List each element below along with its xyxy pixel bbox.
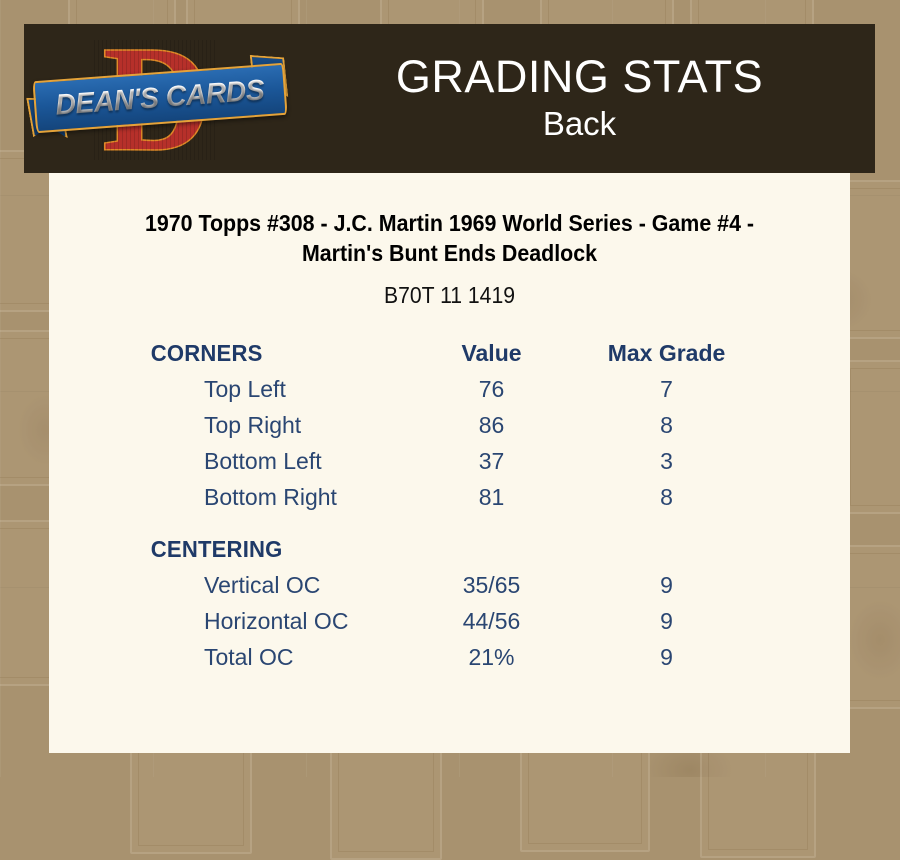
table-row: Total OC 21% 9 [49, 644, 850, 680]
stat-max-grade: 8 [579, 412, 754, 439]
card-title: 1970 Topps #308 - J.C. Martin 1969 World… [131, 208, 768, 268]
table-row: Top Right 86 8 [49, 412, 850, 448]
stats-section-centering: CENTERING Vertical OC 35/65 9 Horizontal… [49, 536, 850, 680]
stat-value: 86 [404, 412, 579, 439]
table-row: Bottom Left 37 3 [49, 448, 850, 484]
table-row: Bottom Right 81 8 [49, 484, 850, 520]
grading-stats-table: CORNERS Value Max Grade Top Left 76 7 To… [49, 340, 850, 680]
stat-label: Bottom Right [49, 484, 404, 511]
stat-max-grade: 9 [579, 608, 754, 635]
stat-label: Total OC [49, 644, 404, 671]
logo-banner-text: DEAN'S CARDS [54, 74, 265, 122]
background-card-tile [842, 360, 900, 514]
stat-value: 44/56 [404, 608, 579, 635]
stat-value: 76 [404, 376, 579, 403]
header-bar: D DEAN'S CARDS GRADING STATS Back [24, 24, 875, 173]
section-title-corners: CORNERS [49, 340, 390, 367]
section-title-centering: CENTERING [49, 536, 390, 563]
column-header-value: Value [404, 340, 579, 367]
page-title: GRADING STATS [294, 50, 865, 104]
stat-label: Vertical OC [49, 572, 404, 599]
stat-max-grade: 9 [579, 572, 754, 599]
logo-banner: DEAN'S CARDS [32, 63, 287, 133]
page-subtitle: Back [294, 104, 865, 144]
stat-value: 21% [404, 644, 579, 671]
card-code: B70T 11 1419 [81, 282, 818, 308]
stat-value: 81 [404, 484, 579, 511]
stat-value: 37 [404, 448, 579, 475]
header-title-group: GRADING STATS Back [294, 50, 875, 144]
stats-section-corners: CORNERS Value Max Grade Top Left 76 7 To… [49, 340, 850, 520]
stat-max-grade: 7 [579, 376, 754, 403]
stat-max-grade: 9 [579, 644, 754, 671]
deans-cards-logo[interactable]: D DEAN'S CARDS [24, 24, 294, 173]
table-row: Horizontal OC 44/56 9 [49, 608, 850, 644]
table-row: Top Left 76 7 [49, 376, 850, 412]
stat-value: 35/65 [404, 572, 579, 599]
stat-max-grade: 3 [579, 448, 754, 475]
stat-label: Top Right [49, 412, 404, 439]
stat-label: Horizontal OC [49, 608, 404, 635]
stat-label: Bottom Left [49, 448, 404, 475]
section-header-row: CORNERS Value Max Grade [49, 340, 850, 376]
content-panel: 1970 Topps #308 - J.C. Martin 1969 World… [49, 173, 850, 753]
table-row: Vertical OC 35/65 9 [49, 572, 850, 608]
section-header-row: CENTERING [49, 536, 850, 572]
stat-label: Top Left [49, 376, 404, 403]
stat-max-grade: 8 [579, 484, 754, 511]
column-header-max-grade: Max Grade [579, 340, 754, 367]
